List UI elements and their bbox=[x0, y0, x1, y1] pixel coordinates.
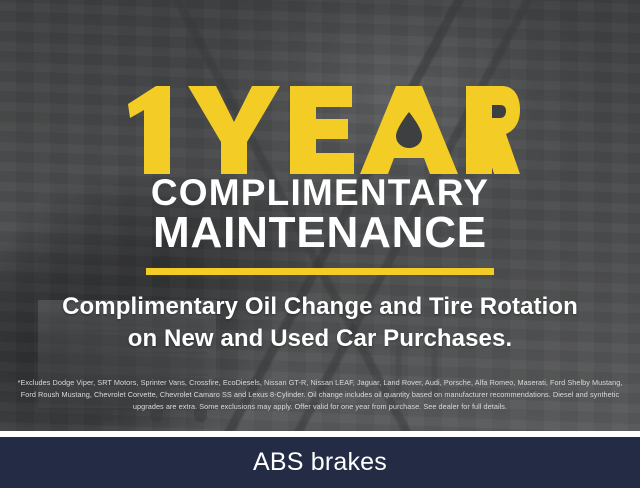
service-offer-ad: COMPLIMENTARY MAINTENANCE Complimentary … bbox=[0, 0, 640, 488]
footer-caption-bar: ABS brakes bbox=[0, 437, 640, 488]
offer-tagline: Complimentary Oil Change and Tire Rotati… bbox=[0, 291, 640, 355]
headline-maintenance: MAINTENANCE bbox=[0, 211, 640, 254]
legal-disclaimer-text: *Excludes Dodge Viper, SRT Motors, Sprin… bbox=[14, 377, 626, 412]
hero-banner: COMPLIMENTARY MAINTENANCE Complimentary … bbox=[0, 0, 640, 431]
hero-content: COMPLIMENTARY MAINTENANCE Complimentary … bbox=[0, 0, 640, 431]
tagline-line-1: Complimentary Oil Change and Tire Rotati… bbox=[0, 291, 640, 323]
headline-complimentary: COMPLIMENTARY bbox=[0, 175, 640, 211]
headline-subtitle-block: COMPLIMENTARY MAINTENANCE bbox=[0, 175, 640, 254]
tagline-line-2: on New and Used Car Purchases. bbox=[0, 323, 640, 355]
yellow-divider-rule bbox=[146, 268, 494, 275]
footer-caption-label: ABS brakes bbox=[253, 448, 387, 477]
one-year-wordmark bbox=[120, 82, 520, 178]
